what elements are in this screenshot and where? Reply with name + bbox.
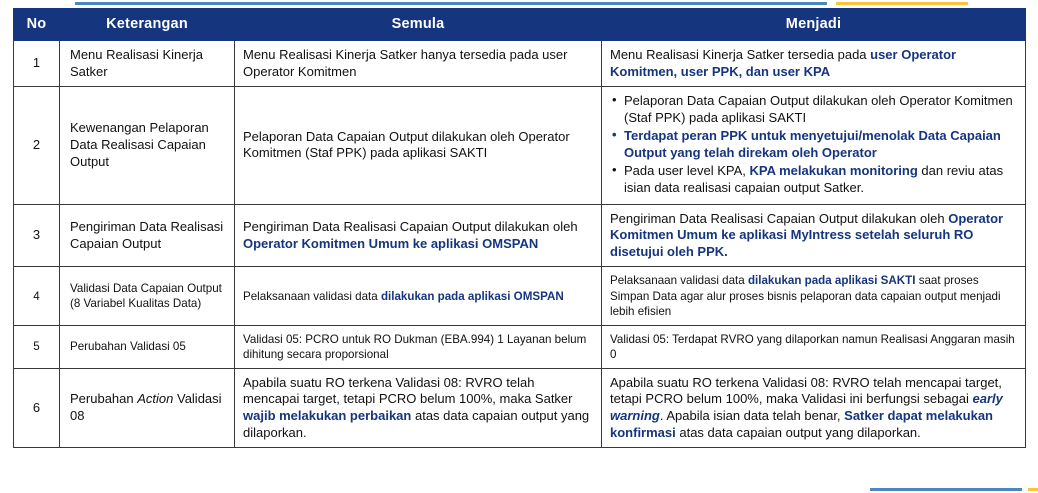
cell-keterangan: Perubahan Action Validasi 08 [60,368,235,448]
semula-text-normal: Apabila suatu RO terkena Validasi 08: RV… [243,375,573,407]
top-blue-accent-bar [75,2,827,5]
cell-semula: Pelaksanaan validasi data dilakukan pada… [235,267,602,325]
table-row: 6 Perubahan Action Validasi 08 Apabila s… [14,368,1026,448]
column-header-keterangan: Keterangan [60,9,235,41]
cell-keterangan: Validasi Data Capaian Output (8 Variabel… [60,267,235,325]
cell-semula: Validasi 05: PCRO untuk RO Dukman (EBA.9… [235,325,602,368]
cell-no: 1 [14,41,60,87]
list-item-text-normal: Pada user level KPA, [624,163,750,178]
cell-no: 2 [14,87,60,204]
table-body: 1 Menu Realisasi Kinerja Satker Menu Rea… [14,41,1026,448]
menjadi-text-normal: Pelaksanaan validasi data [610,274,748,287]
cell-keterangan: Menu Realisasi Kinerja Satker [60,41,235,87]
menjadi-text-normal: Apabila suatu RO terkena Validasi 08: RV… [610,375,1002,407]
list-item: Pada user level KPA, KPA melakukan monit… [610,163,1017,197]
keterangan-text-normal: Perubahan [70,391,137,406]
table-row: 5 Perubahan Validasi 05 Validasi 05: PCR… [14,325,1026,368]
table-row: 3 Pengiriman Data Realisasi Capaian Outp… [14,204,1026,267]
table-header: No Keterangan Semula Menjadi [14,9,1026,41]
cell-menjadi: Menu Realisasi Kinerja Satker tersedia p… [602,41,1026,87]
cell-no: 3 [14,204,60,267]
cell-menjadi: Validasi 05: Terdapat RVRO yang dilapork… [602,325,1026,368]
menjadi-text-normal-2: . Apabila isian data telah benar, [660,408,844,423]
cell-menjadi: Pelaporan Data Capaian Output dilakukan … [602,87,1026,204]
table-header-row: No Keterangan Semula Menjadi [14,9,1026,41]
top-yellow-accent-bar [836,2,968,5]
cell-menjadi: Apabila suatu RO terkena Validasi 08: RV… [602,368,1026,448]
semula-text-emphasis: Operator Komitmen Umum ke aplikasi OMSPA… [243,236,538,251]
cell-semula: Menu Realisasi Kinerja Satker hanya ters… [235,41,602,87]
changes-comparison-table: No Keterangan Semula Menjadi 1 Menu Real… [13,8,1026,448]
semula-text-emphasis: wajib melakukan perbaikan [243,408,411,423]
cell-no: 5 [14,325,60,368]
cell-keterangan: Perubahan Validasi 05 [60,325,235,368]
semula-text-normal: Pengiriman Data Realisasi Capaian Output… [243,219,578,234]
cell-semula: Apabila suatu RO terkena Validasi 08: RV… [235,368,602,448]
cell-keterangan: Pengiriman Data Realisasi Capaian Output [60,204,235,267]
table-row: 1 Menu Realisasi Kinerja Satker Menu Rea… [14,41,1026,87]
cell-menjadi: Pelaksanaan validasi data dilakukan pada… [602,267,1026,325]
cell-no: 6 [14,368,60,448]
bottom-yellow-accent-bar [1028,488,1038,491]
semula-text-emphasis: dilakukan pada aplikasi OMSPAN [381,290,564,303]
list-item-text-emphasis: KPA melakukan monitoring [750,163,918,178]
list-item: Terdapat peran PPK untuk menyetujui/meno… [610,128,1017,162]
menjadi-bullet-list: Pelaporan Data Capaian Output dilakukan … [610,93,1017,196]
cell-semula: Pelaporan Data Capaian Output dilakukan … [235,87,602,204]
column-header-no: No [14,9,60,41]
menjadi-text-normal: Pengiriman Data Realisasi Capaian Output… [610,211,948,226]
bottom-blue-accent-bar [870,488,1022,491]
cell-no: 4 [14,267,60,325]
column-header-menjadi: Menjadi [602,9,1026,41]
menjadi-text-normal: Menu Realisasi Kinerja Satker tersedia p… [610,47,870,62]
cell-keterangan: Kewenangan Pelaporan Data Realisasi Capa… [60,87,235,204]
list-item: Pelaporan Data Capaian Output dilakukan … [610,93,1017,127]
table-row: 4 Validasi Data Capaian Output (8 Variab… [14,267,1026,325]
menjadi-text-emphasis: dilakukan pada aplikasi SAKTI [748,274,916,287]
cell-semula: Pengiriman Data Realisasi Capaian Output… [235,204,602,267]
menjadi-text-normal-3: atas data capaian output yang dilaporkan… [676,425,921,440]
keterangan-text-italic: Action [137,391,173,406]
semula-text-normal: Pelaksanaan validasi data [243,290,381,303]
cell-menjadi: Pengiriman Data Realisasi Capaian Output… [602,204,1026,267]
table-row: 2 Kewenangan Pelaporan Data Realisasi Ca… [14,87,1026,204]
column-header-semula: Semula [235,9,602,41]
comparison-table-page: No Keterangan Semula Menjadi 1 Menu Real… [0,0,1038,493]
